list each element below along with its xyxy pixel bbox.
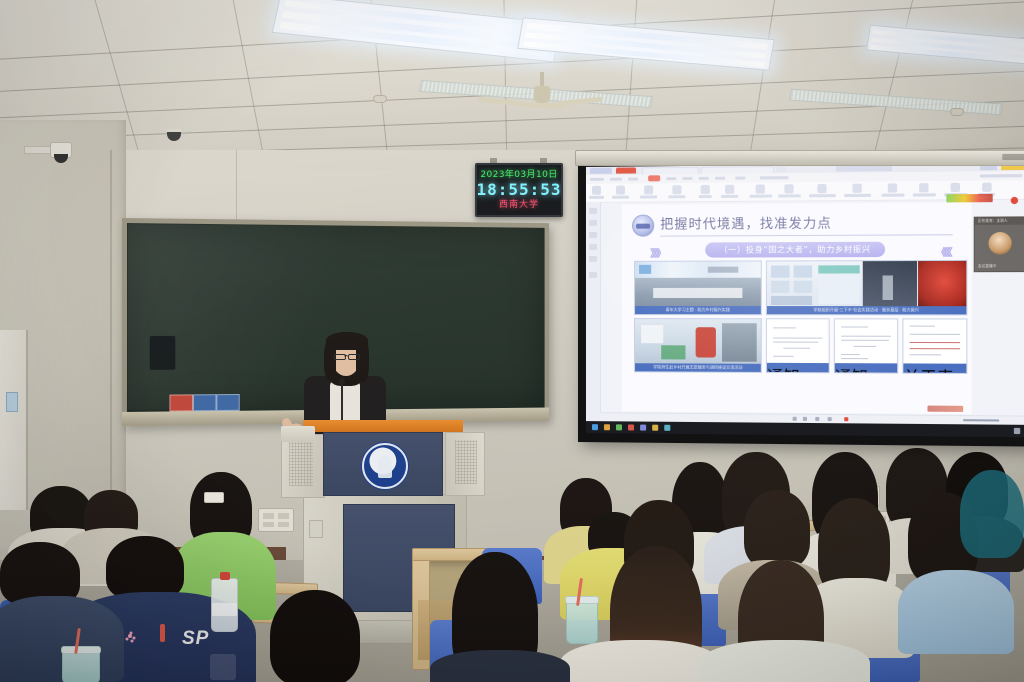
brand-logo bbox=[946, 194, 992, 203]
slide-image-card: 学院师生赴乡村开展志愿服务与调研座谈交流活动 bbox=[634, 318, 762, 373]
chevron-left-icon: 》》》 bbox=[650, 245, 664, 260]
card-caption: 通知 · 关于开展乡村振兴志愿服务的通知 bbox=[835, 363, 897, 372]
presenter bbox=[300, 332, 396, 432]
clock-institution: 西南大学 bbox=[499, 199, 539, 210]
wall-cabinet bbox=[0, 330, 28, 510]
smoke-detector-icon bbox=[373, 95, 387, 103]
slide-image-card: 青年大学习主题 · 助力乡村振兴实践 bbox=[634, 260, 762, 315]
water-bottle bbox=[211, 578, 238, 632]
podium-top-trim bbox=[303, 420, 463, 432]
video-conference-panel[interactable]: 正在发言：主讲人 会议直播中 bbox=[974, 216, 1024, 272]
audience-top bbox=[700, 640, 870, 682]
avatar bbox=[988, 232, 1011, 255]
clock-time: 18:55:53 bbox=[476, 181, 561, 199]
card-caption: 关于表彰优秀实践团队的决定 bbox=[903, 363, 966, 373]
card-caption: 通知 · 关于开展“三下乡”社会实践的通知 bbox=[767, 363, 829, 372]
drink-cup bbox=[566, 600, 598, 644]
slide-document-card: 通知 · 关于开展乡村振兴志愿服务的通知 bbox=[834, 318, 898, 373]
microphone bbox=[338, 378, 346, 426]
chevron-right-icon: 《《《 bbox=[936, 244, 951, 259]
smoke-detector-icon bbox=[950, 108, 964, 116]
slide-thumbnail-pane[interactable] bbox=[586, 202, 601, 421]
audience-member bbox=[270, 590, 360, 682]
slide-logo-icon bbox=[632, 215, 654, 237]
card-caption: 学院师生赴乡村开展志愿服务与调研座谈交流活动 bbox=[635, 363, 761, 372]
slide-title-rule bbox=[660, 234, 952, 236]
projected-image: 把握时代境遇，找准发力点 》》》 （一）投身“国之大者”，助力乡村振兴 《《《 … bbox=[586, 163, 1024, 438]
chalk-box[interactable] bbox=[169, 394, 193, 411]
card-caption: 学校组织开展“三下乡”社会实践活动 · 服务基层 · 助力振兴 bbox=[767, 306, 966, 314]
record-indicator-icon bbox=[1011, 197, 1018, 204]
audience-top bbox=[560, 640, 720, 682]
university-crest-icon bbox=[362, 443, 408, 489]
projector-screen-housing bbox=[575, 150, 1024, 166]
slide-document-card: 通知 · 关于开展“三下乡”社会实践的通知 bbox=[766, 318, 830, 373]
vc-header: 正在发言：主讲人 bbox=[978, 219, 1008, 224]
wall-sign bbox=[6, 392, 18, 412]
audience-top bbox=[898, 570, 1014, 654]
audience-top bbox=[430, 650, 570, 682]
ceiling-fan bbox=[512, 72, 572, 110]
slide-footer-logo bbox=[927, 406, 963, 412]
jacket-text: SP bbox=[182, 628, 209, 650]
chalk-box[interactable] bbox=[216, 394, 239, 411]
audience-member bbox=[106, 536, 184, 600]
projection-screen: 把握时代境遇，找准发力点 》》》 （一）投身“国之大者”，助力乡村振兴 《《《 … bbox=[578, 155, 1024, 446]
audience-member bbox=[960, 470, 1024, 558]
badge-icon bbox=[128, 634, 132, 638]
jacket-print bbox=[210, 654, 236, 680]
pen-icon bbox=[160, 624, 165, 642]
hair-clip bbox=[204, 492, 224, 503]
card-caption: 青年大学习主题 · 助力乡村振兴实践 bbox=[635, 306, 761, 314]
slide-image-card: 学校组织开展“三下乡”社会实践活动 · 服务基层 · 助力振兴 bbox=[766, 260, 967, 316]
vc-footer: 会议直播中 bbox=[978, 264, 996, 269]
slide-title: 把握时代境遇，找准发力点 bbox=[660, 212, 832, 232]
slide-canvas: 把握时代境遇，找准发力点 》》》 （一）投身“国之大者”，助力乡村振兴 《《《 … bbox=[622, 202, 972, 414]
chalk-box[interactable] bbox=[193, 394, 216, 411]
slide-subtitle: （一）投身“国之大者”，助力乡村振兴 bbox=[705, 242, 885, 258]
lecture-hall-photo: 2023年03月10日 18:55:53 西南大学 bbox=[0, 0, 1024, 682]
slide-document-card: 关于表彰优秀实践团队的决定 bbox=[902, 318, 967, 374]
drink-cup bbox=[62, 650, 100, 682]
audience-member bbox=[744, 490, 810, 568]
wall-camera-icon bbox=[24, 142, 70, 164]
os-taskbar[interactable] bbox=[586, 421, 1024, 437]
led-clock-display: 2023年03月10日 18:55:53 西南大学 bbox=[475, 163, 563, 217]
slide-content-grid: 青年大学习主题 · 助力乡村振兴实践 bbox=[634, 260, 959, 391]
blackboard-speaker-box bbox=[150, 336, 176, 370]
